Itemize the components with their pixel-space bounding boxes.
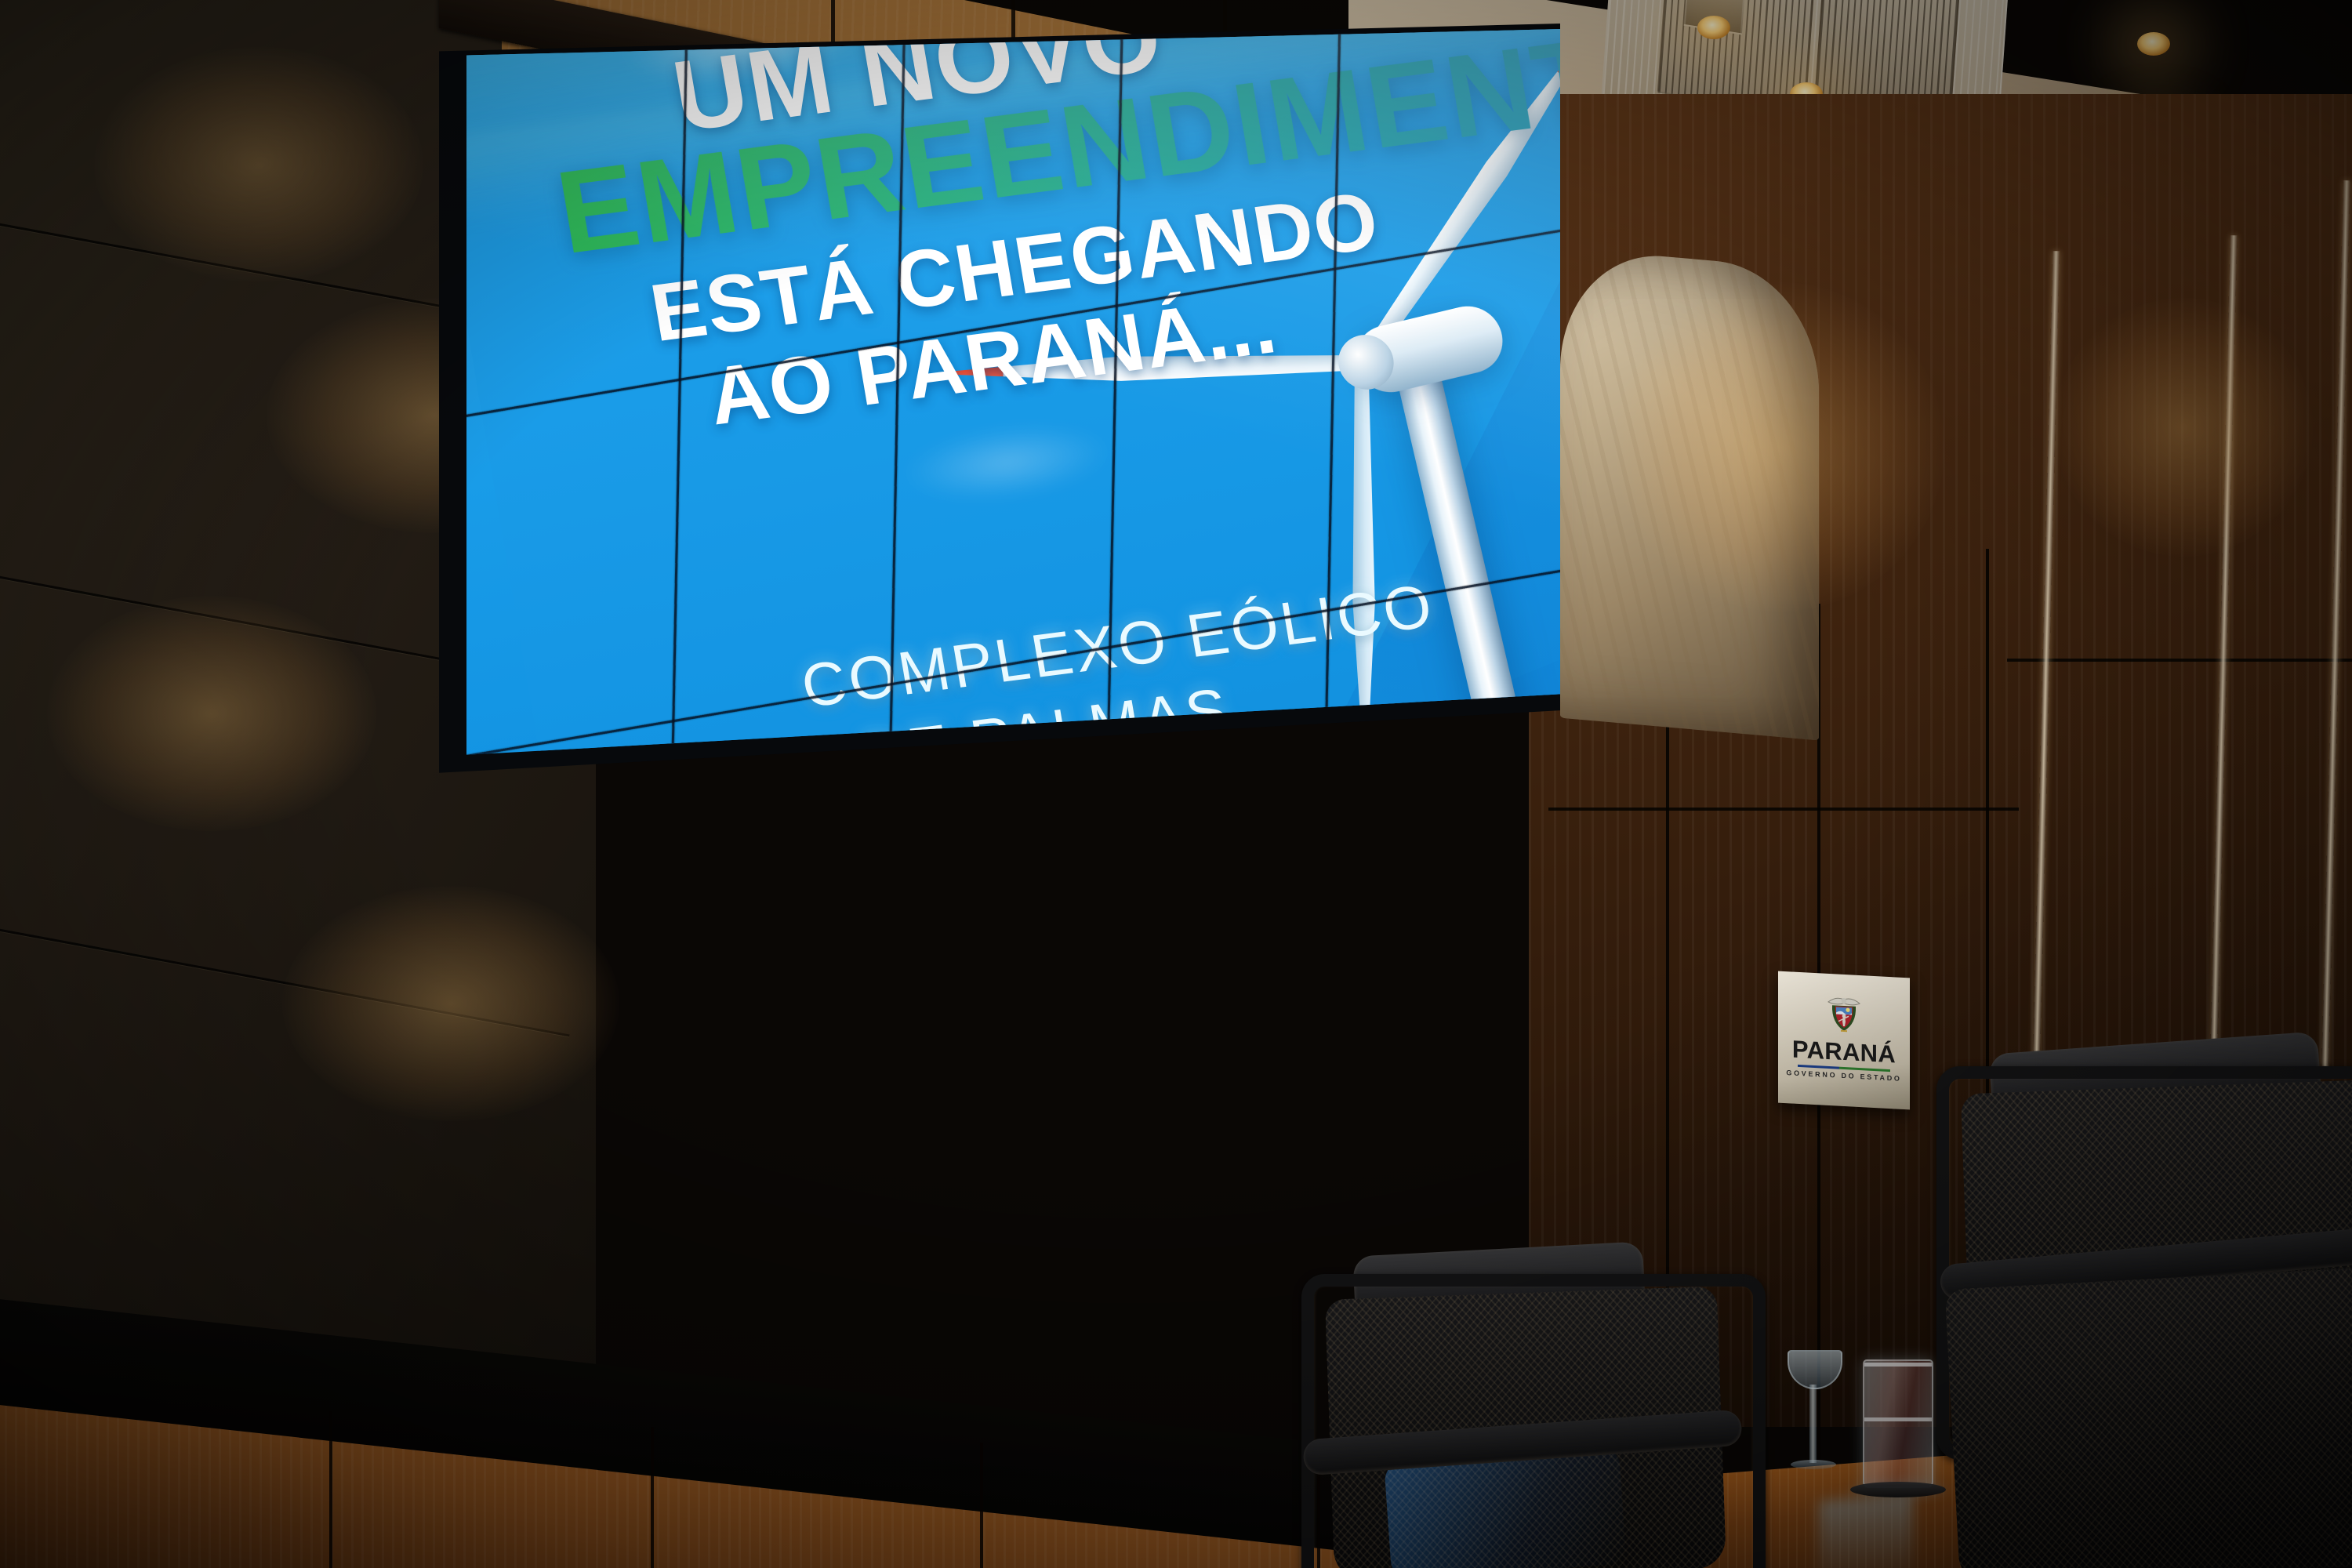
parana-coat-of-arms-icon <box>1824 985 1864 1039</box>
slide-subtitle-line-5: DO ESTADO DO PARANÁ <box>712 872 1498 1043</box>
video-wall-bezel-seam <box>466 890 1560 1104</box>
slide-subtitle-line-3: A MAIOR CENTRAL <box>815 728 1421 875</box>
parana-government-plaque: PARANÁ GOVERNO DO ESTADO <box>1778 971 1910 1110</box>
chair-seat-mesh <box>1944 1267 2352 1568</box>
downlight-icon <box>1697 16 1730 39</box>
conference-chair-left[interactable] <box>1254 1243 1835 1568</box>
slide-subtitle-line-4: DE GERAÇÃO EÓLICA <box>757 800 1460 960</box>
auditorium-scene: PARANÁ GOVERNO DO ESTADO <box>0 0 2352 1568</box>
downlight-icon <box>2137 32 2170 56</box>
stone-column <box>1560 248 1819 741</box>
plaque-title: PARANÁ <box>1792 1037 1896 1067</box>
conference-chair-right[interactable] <box>1905 1043 2352 1568</box>
